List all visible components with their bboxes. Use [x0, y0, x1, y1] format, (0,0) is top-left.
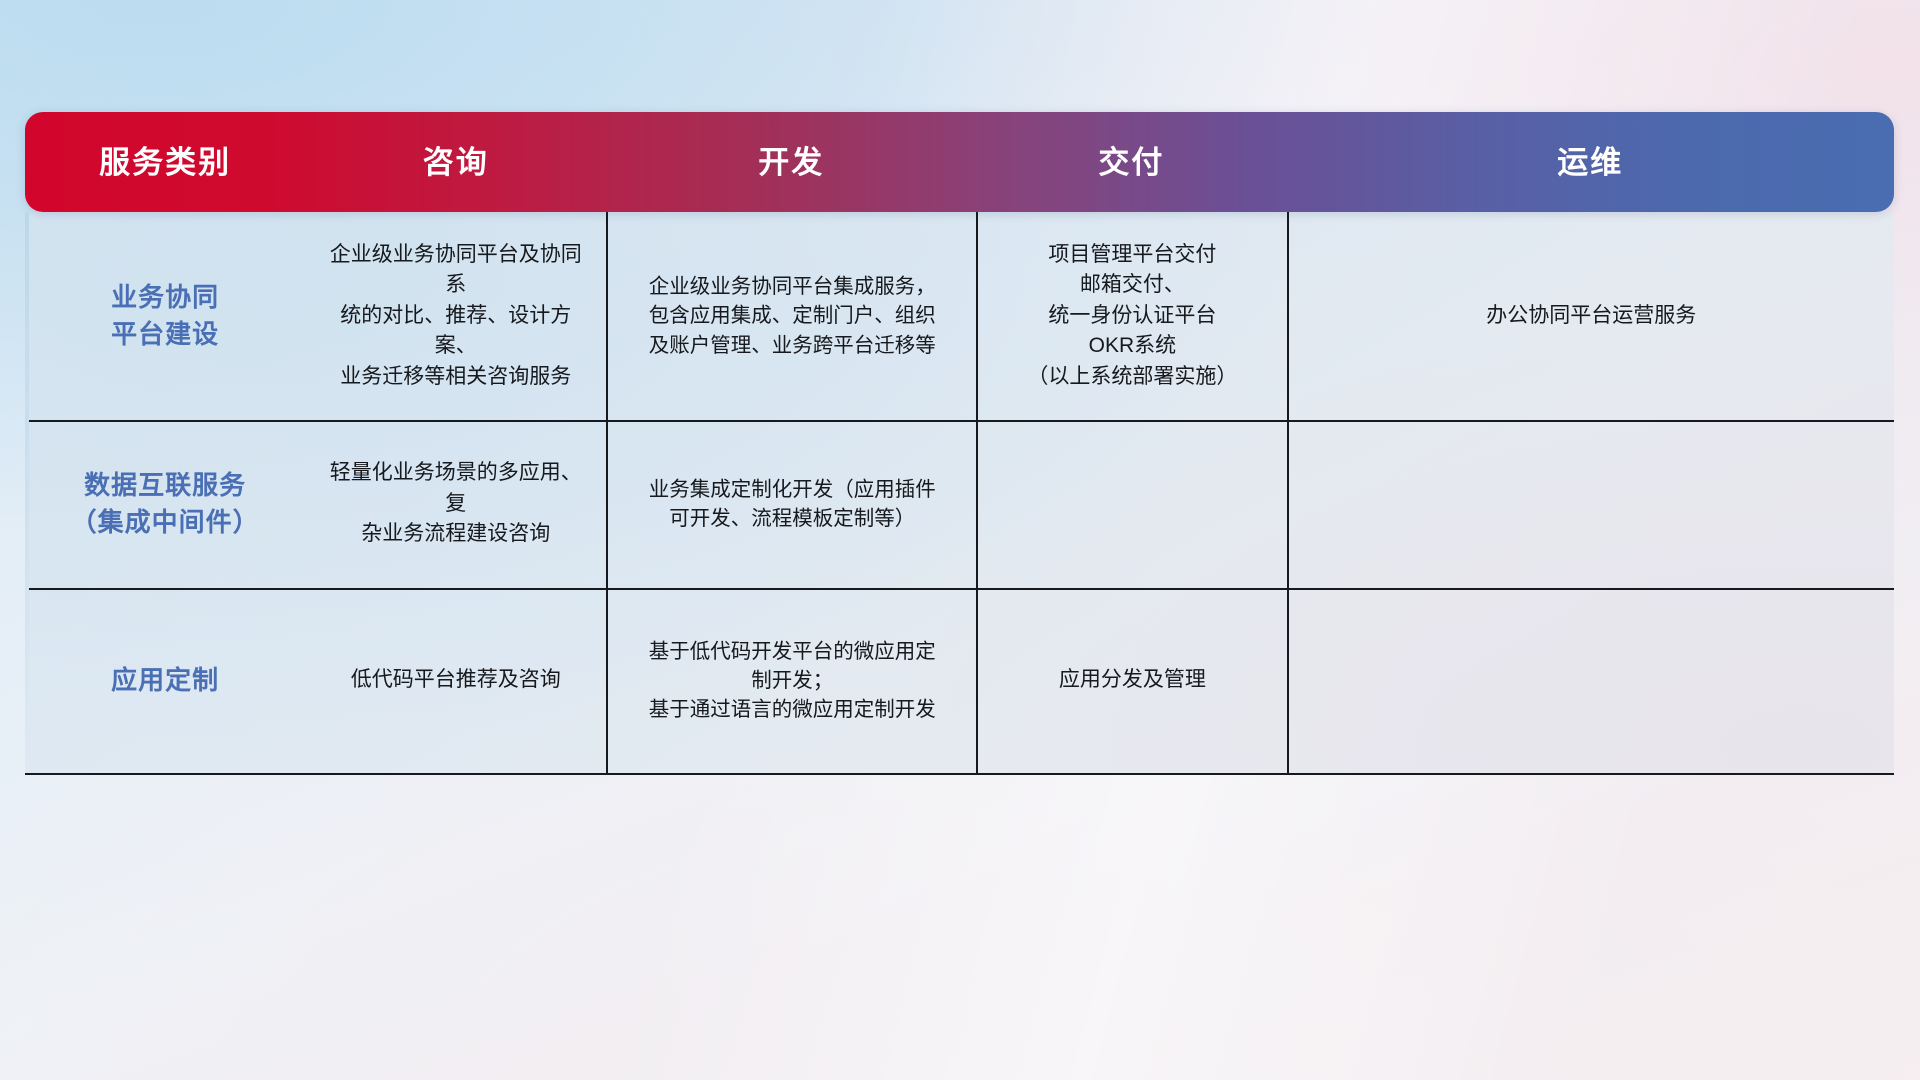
cell-text: 企业级业务协同平台及协同系 统的对比、推荐、设计方案、 业务迁移等相关咨询服务 — [319, 240, 592, 392]
cell-text: 业务集成定制化开发（应用插件 可开发、流程模板定制等） — [649, 475, 936, 533]
cell-development: 业务集成定制化开发（应用插件 可开发、流程模板定制等） — [606, 420, 976, 588]
left-edge-accent — [25, 212, 29, 773]
column-header-operations: 运维 — [1287, 147, 1894, 178]
row-divider — [25, 420, 1894, 422]
table-grid: 业务协同 平台建设 企业级业务协同平台及协同系 统的对比、推荐、设计方案、 业务… — [25, 212, 1894, 773]
cell-operations: 办公协同平台运营服务 — [1287, 212, 1894, 420]
row-divider — [25, 773, 1894, 775]
row-divider — [25, 588, 1894, 590]
cell-text: 应用分发及管理 — [1059, 665, 1206, 695]
row-label-cell: 业务协同 平台建设 — [25, 212, 305, 420]
table-row: 应用定制 低代码平台推荐及咨询 基于低代码开发平台的微应用定 制开发； 基于通过… — [25, 588, 1894, 773]
cell-delivery: 应用分发及管理 — [976, 588, 1286, 773]
cell-text: 低代码平台推荐及咨询 — [351, 665, 561, 695]
cell-text: 基于低代码开发平台的微应用定 制开发； 基于通过语言的微应用定制开发 — [649, 637, 936, 724]
row-label-business-collaboration-platform: 业务协同 平台建设 — [111, 279, 219, 353]
cell-text: 办公协同平台运营服务 — [1486, 301, 1696, 331]
row-label-data-interconnect-service: 数据互联服务 （集成中间件） — [71, 467, 260, 541]
cell-consulting: 轻量化业务场景的多应用、复 杂业务流程建设咨询 — [305, 420, 606, 588]
cell-text: 轻量化业务场景的多应用、复 杂业务流程建设咨询 — [319, 458, 592, 549]
cell-consulting: 低代码平台推荐及咨询 — [305, 588, 606, 773]
service-matrix-table: 服务类别 咨询 开发 交付 运维 业务协同 平台建设 企业级业务协同平台及协同系… — [25, 112, 1894, 773]
cell-operations — [1287, 420, 1894, 588]
column-header-service-category: 服务类别 — [25, 147, 305, 178]
cell-development: 企业级业务协同平台集成服务， 包含应用集成、定制门户、组织 及账户管理、业务跨平… — [606, 212, 976, 420]
column-header-development: 开发 — [606, 147, 976, 178]
cell-delivery: 项目管理平台交付 邮箱交付、 统一身份认证平台 OKR系统 （以上系统部署实施） — [976, 212, 1286, 420]
row-label-cell: 数据互联服务 （集成中间件） — [25, 420, 305, 588]
cell-development: 基于低代码开发平台的微应用定 制开发； 基于通过语言的微应用定制开发 — [606, 588, 976, 773]
column-header-delivery: 交付 — [976, 147, 1286, 178]
cell-text: 企业级业务协同平台集成服务， 包含应用集成、定制门户、组织 及账户管理、业务跨平… — [649, 272, 936, 359]
cell-operations — [1287, 588, 1894, 773]
table-row: 业务协同 平台建设 企业级业务协同平台及协同系 统的对比、推荐、设计方案、 业务… — [25, 212, 1894, 420]
table-header-row: 服务类别 咨询 开发 交付 运维 — [25, 112, 1894, 212]
table-row: 数据互联服务 （集成中间件） 轻量化业务场景的多应用、复 杂业务流程建设咨询 业… — [25, 420, 1894, 588]
row-label-cell: 应用定制 — [25, 588, 305, 773]
cell-text: 项目管理平台交付 邮箱交付、 统一身份认证平台 OKR系统 （以上系统部署实施） — [1027, 240, 1237, 392]
row-label-application-customization: 应用定制 — [111, 662, 219, 699]
cell-delivery — [976, 420, 1286, 588]
cell-consulting: 企业级业务协同平台及协同系 统的对比、推荐、设计方案、 业务迁移等相关咨询服务 — [305, 212, 606, 420]
column-header-consulting: 咨询 — [305, 147, 606, 178]
